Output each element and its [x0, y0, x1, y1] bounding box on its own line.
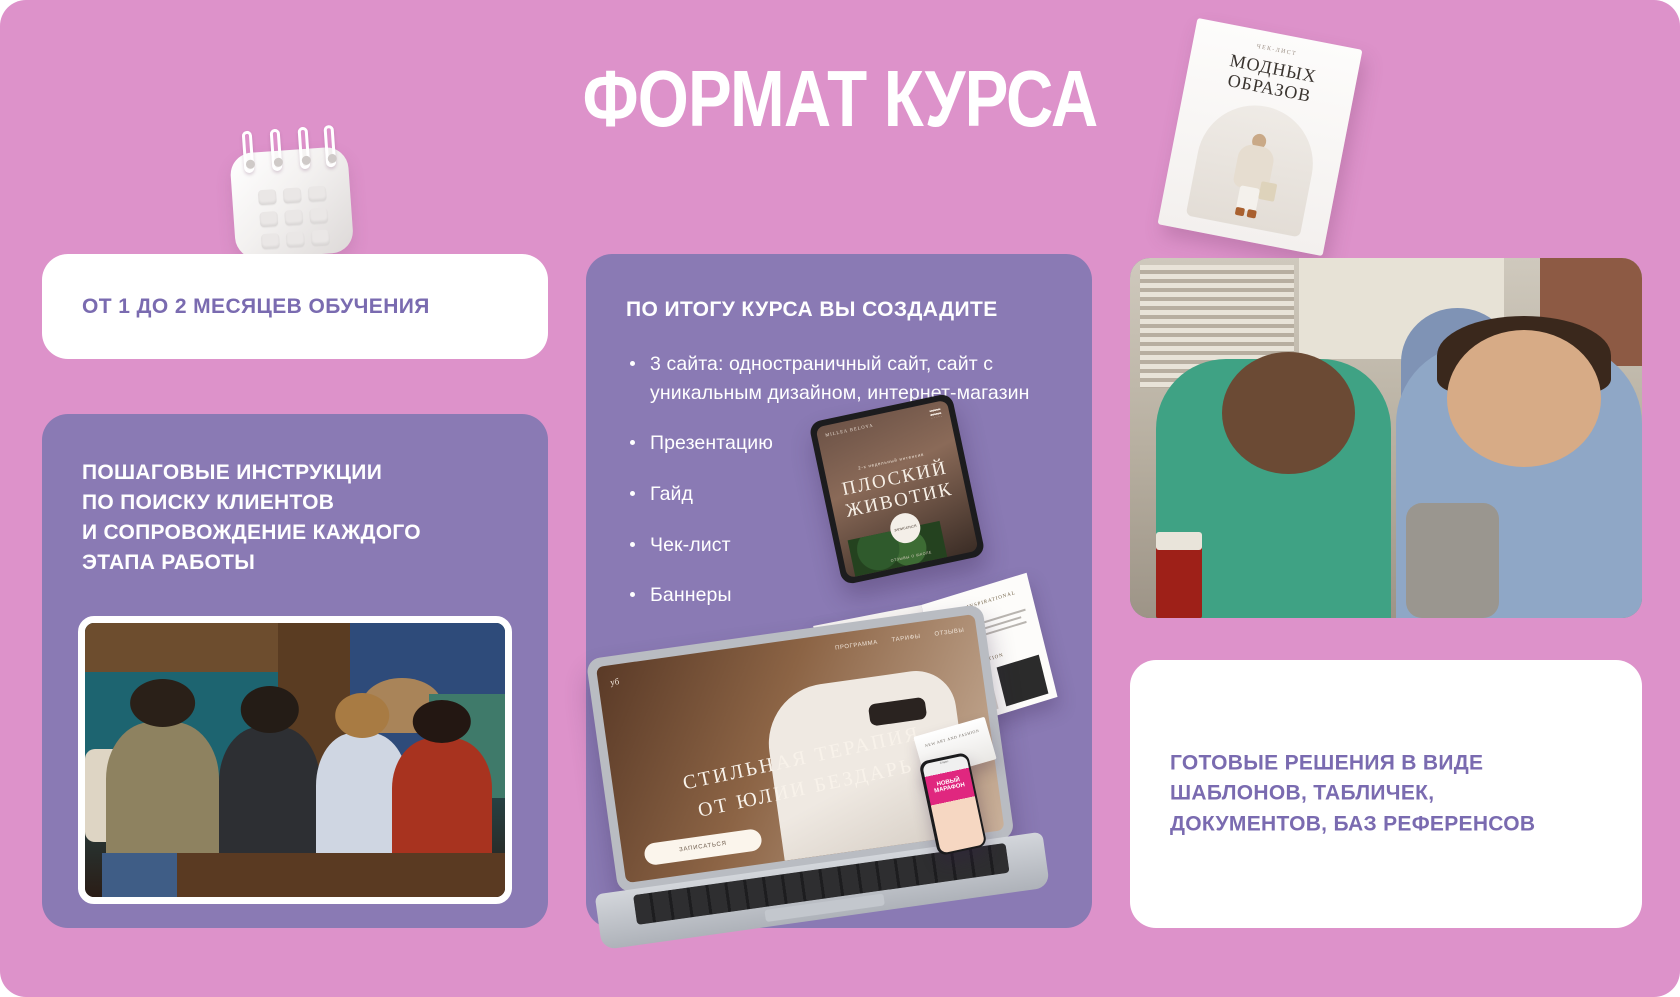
bullet-dot	[630, 491, 635, 496]
tablet-brand: MILLEA BELOVA	[825, 423, 874, 438]
calendar-day-grid	[258, 186, 330, 250]
slide-root: ФОРМАТ КУРСА ЧЕК-ЛИСТ МОДНЫХ ОБРАЗОВ	[0, 0, 1680, 997]
laptop-site-logo: уб	[610, 676, 620, 687]
tablet-screen: MILLEA BELOVA 2-х недельный интенсив ПЛО…	[815, 400, 978, 578]
bullet-dot	[630, 440, 635, 445]
steps-card: ПОШАГОВЫЕ ИНСТРУКЦИИ ПО ПОИСКУ КЛИЕНТОВ …	[42, 414, 548, 928]
calendar-ring	[298, 127, 311, 170]
friends-sitcom-photo	[78, 616, 512, 904]
bullet-dot	[630, 361, 635, 366]
result-card-heading: ПО ИТОГУ КУРСА ВЫ СОЗДАДИТЕ	[626, 298, 1056, 322]
calendar-3d-icon	[228, 124, 355, 260]
phone-title: НОВЫЙ МАРАФОН	[926, 774, 973, 796]
checklist-book-mockup: ЧЕК-ЛИСТ МОДНЫХ ОБРАЗОВ	[1158, 18, 1363, 256]
steps-card-text: ПОШАГОВЫЕ ИНСТРУКЦИИ ПО ПОИСКУ КЛИЕНТОВ …	[82, 458, 512, 578]
calendar-ring	[323, 125, 336, 168]
duration-card: ОТ 1 ДО 2 МЕСЯЦЕВ ОБУЧЕНИЯ	[42, 254, 548, 359]
ready-solutions-text: ГОТОВЫЕ РЕШЕНИЯ В ВИДЕ ШАБЛОНОВ, ТАБЛИЧЕ…	[1170, 748, 1600, 839]
list-item: 3 сайта: одностраничный сайт, сайт с уни…	[626, 350, 1046, 407]
laptop-cta-button: ЗАПИСАТЬСЯ	[643, 828, 763, 866]
scrubs-sitcom-photo	[1130, 258, 1642, 618]
slide-canvas: ФОРМАТ КУРСА ЧЕК-ЛИСТ МОДНЫХ ОБРАЗОВ	[0, 0, 1680, 997]
laptop-site-nav: ПРОГРАММА ТАРИФЫ ОТЗЫВЫ	[835, 628, 965, 652]
ready-solutions-card: ГОТОВЫЕ РЕШЕНИЯ В ВИДЕ ШАБЛОНОВ, ТАБЛИЧЕ…	[1130, 660, 1642, 928]
calendar-ring	[270, 129, 283, 172]
book-cover-photo	[1186, 96, 1323, 238]
book-model-figure	[1225, 128, 1281, 220]
calendar-ring	[242, 131, 255, 174]
bullet-dot	[630, 542, 635, 547]
bullet-dot	[630, 592, 635, 597]
hamburger-menu-icon	[929, 408, 941, 418]
duration-card-text: ОТ 1 ДО 2 МЕСЯЦЕВ ОБУЧЕНИЯ	[82, 295, 430, 319]
